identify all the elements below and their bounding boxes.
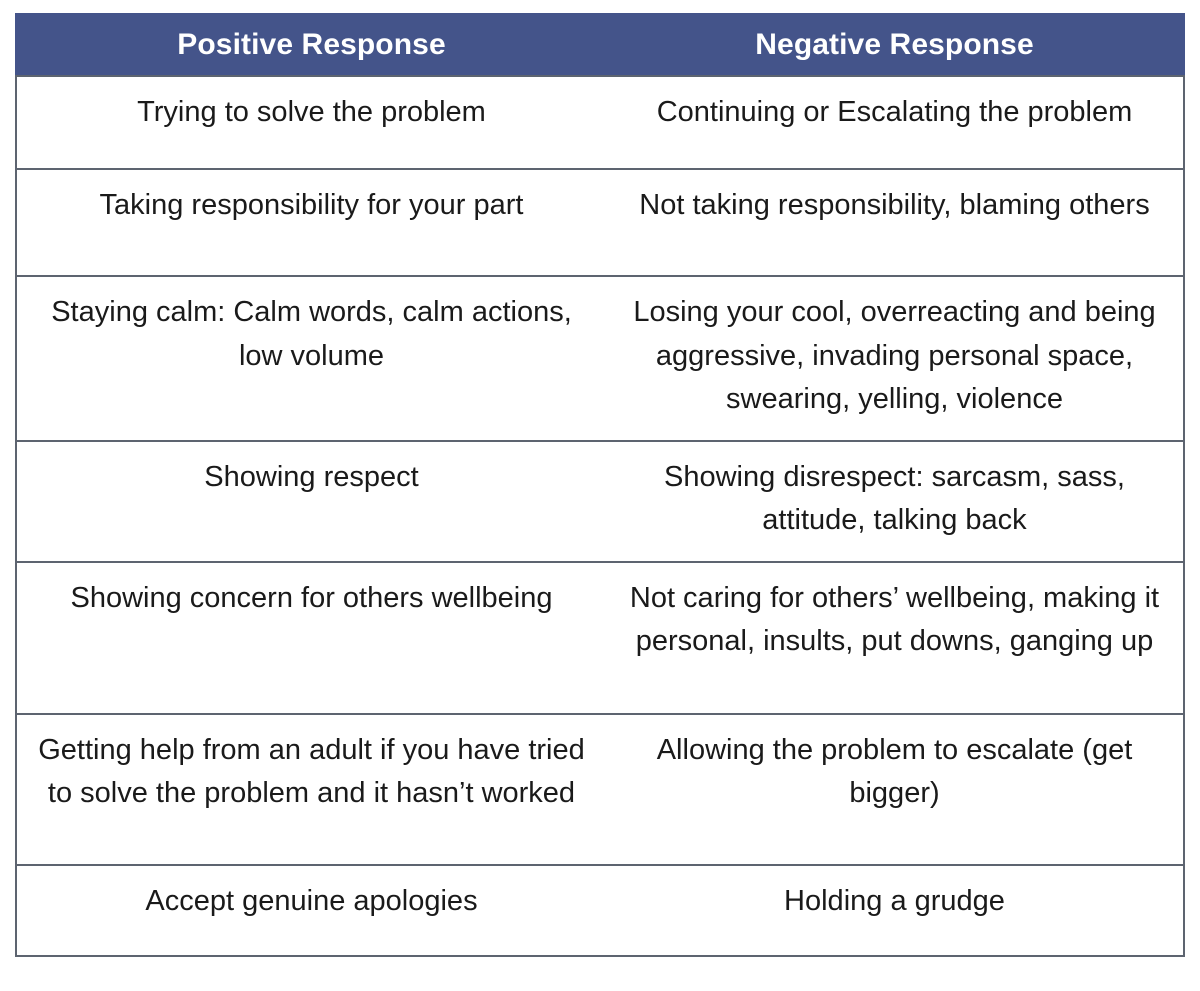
cell-positive-response: Trying to solve the problem xyxy=(16,76,606,169)
cell-positive-response: Getting help from an adult if you have t… xyxy=(16,714,606,865)
table-row: Showing concern for others wellbeing Not… xyxy=(16,562,1184,714)
table-row: Trying to solve the problem Continuing o… xyxy=(16,76,1184,169)
cell-negative-response: Losing your cool, overreacting and being… xyxy=(606,276,1184,441)
cell-negative-response: Holding a grudge xyxy=(606,865,1184,956)
table-row: Taking responsibility for your part Not … xyxy=(16,169,1184,276)
cell-positive-response: Showing concern for others wellbeing xyxy=(16,562,606,714)
table-row: Showing respect Showing disrespect: sarc… xyxy=(16,441,1184,562)
cell-negative-response: Showing disrespect: sarcasm, sass, attit… xyxy=(606,441,1184,562)
column-header-negative-response: Negative Response xyxy=(606,14,1184,76)
table-row: Staying calm: Calm words, calm actions, … xyxy=(16,276,1184,441)
cell-positive-response: Showing respect xyxy=(16,441,606,562)
cell-negative-response: Not caring for others’ wellbeing, making… xyxy=(606,562,1184,714)
cell-positive-response: Staying calm: Calm words, calm actions, … xyxy=(16,276,606,441)
cell-positive-response: Accept genuine apologies xyxy=(16,865,606,956)
table-row: Accept genuine apologies Holding a grudg… xyxy=(16,865,1184,956)
positive-negative-response-table: Positive Response Negative Response Tryi… xyxy=(15,13,1185,957)
cell-negative-response: Allowing the problem to escalate (get bi… xyxy=(606,714,1184,865)
cell-negative-response: Continuing or Escalating the problem xyxy=(606,76,1184,169)
table-row: Getting help from an adult if you have t… xyxy=(16,714,1184,865)
cell-positive-response: Taking responsibility for your part xyxy=(16,169,606,276)
page-root: Positive Response Negative Response Tryi… xyxy=(0,0,1200,991)
table-header: Positive Response Negative Response xyxy=(16,14,1184,76)
table-header-row: Positive Response Negative Response xyxy=(16,14,1184,76)
table-body: Trying to solve the problem Continuing o… xyxy=(16,76,1184,956)
cell-negative-response: Not taking responsibility, blaming other… xyxy=(606,169,1184,276)
column-header-positive-response: Positive Response xyxy=(16,14,606,76)
